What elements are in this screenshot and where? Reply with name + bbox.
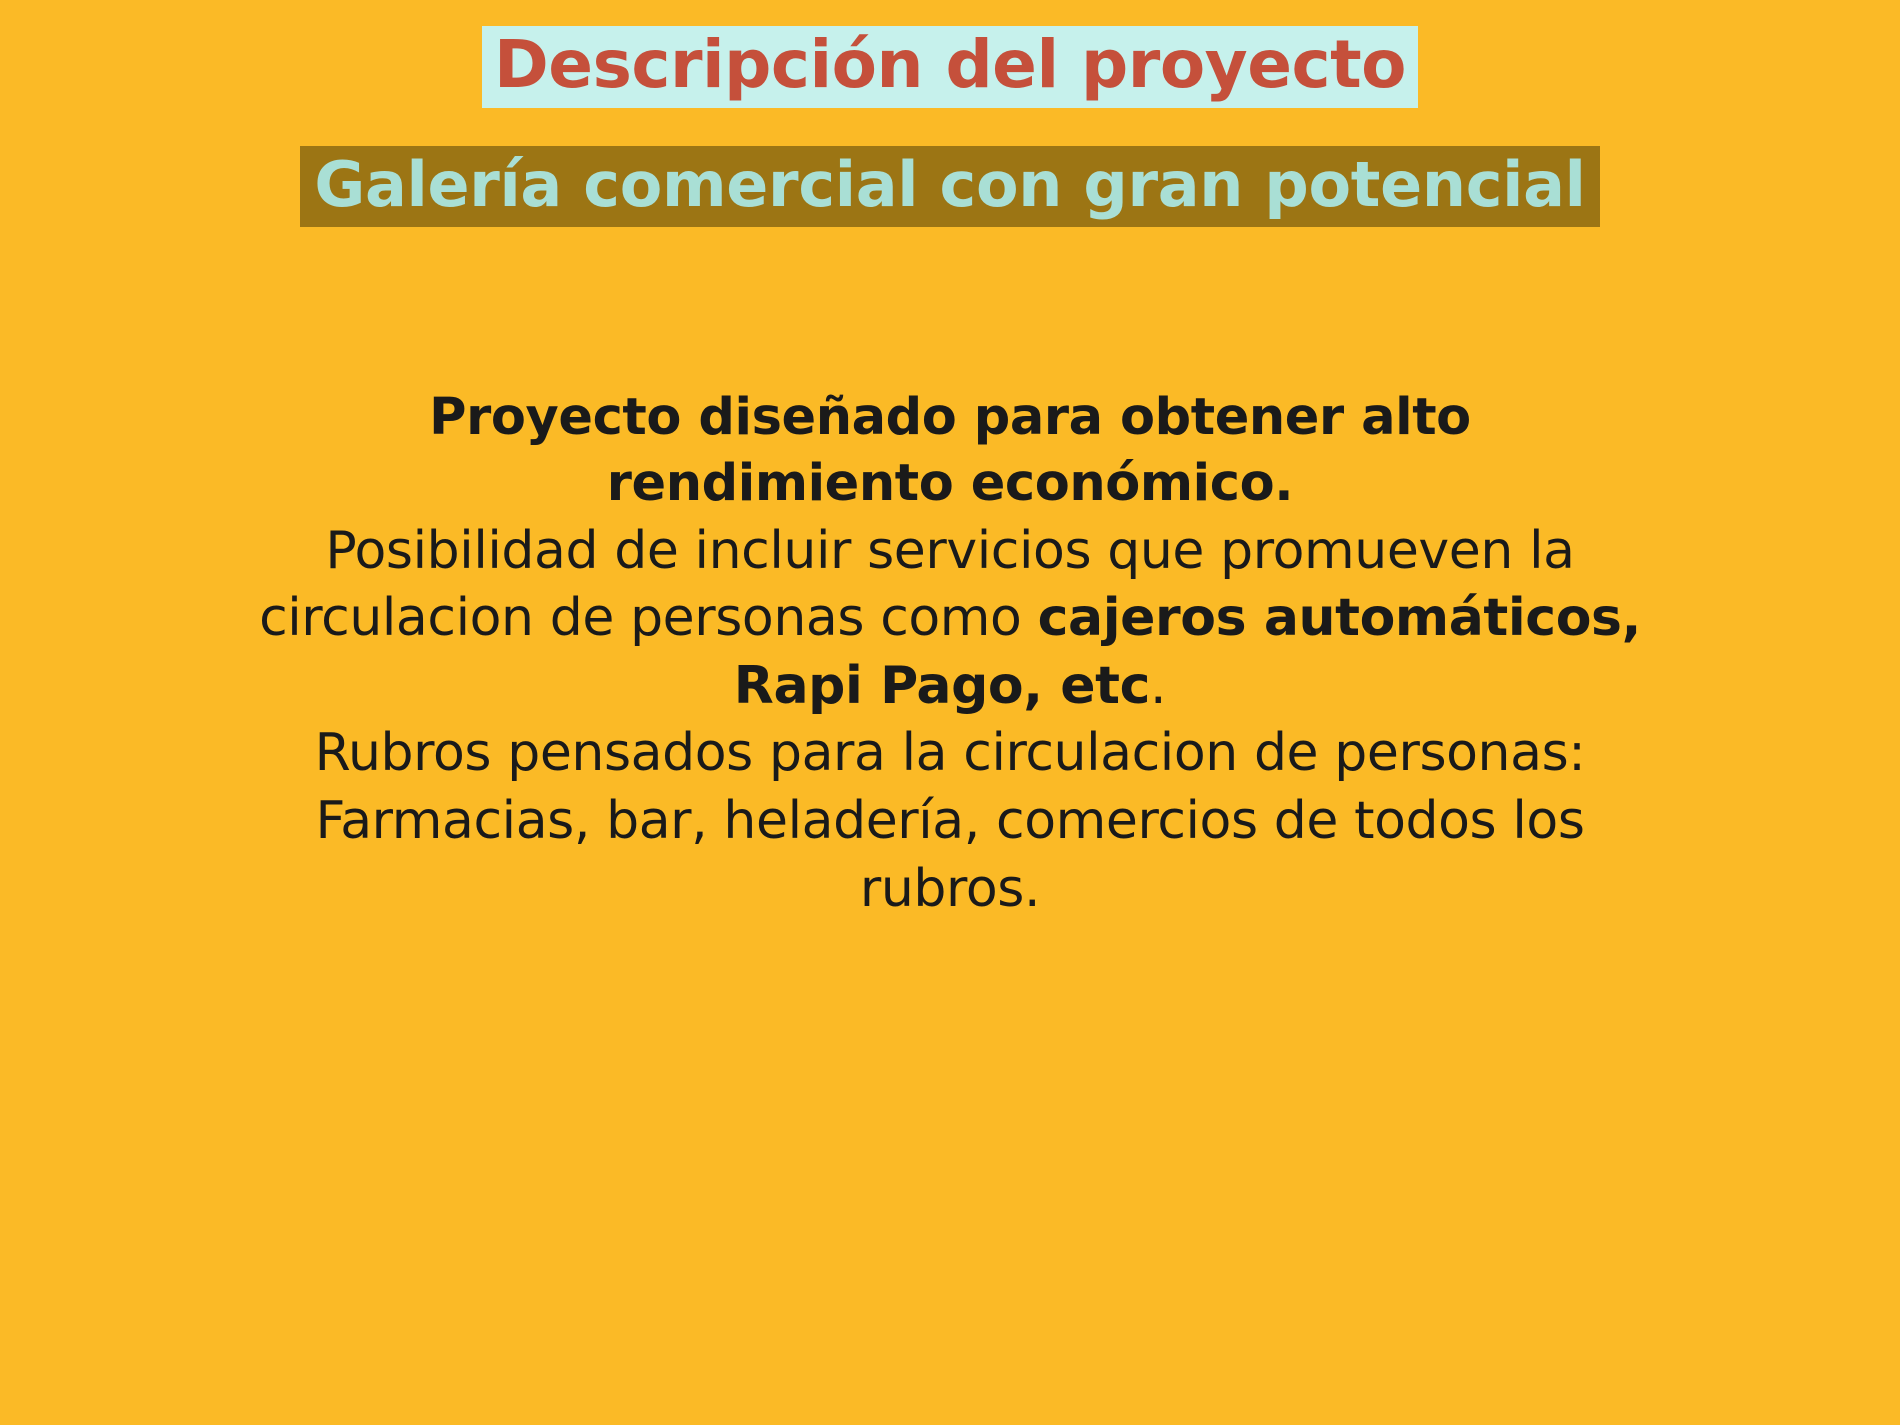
- paragraph-services-trail: .: [1150, 656, 1166, 716]
- page-title: Descripción del proyecto: [482, 26, 1418, 108]
- page-subtitle: Galería comercial con gran potencial: [300, 146, 1599, 227]
- paragraph-highlight-text-1: Proyecto diseñado para obtener alto: [429, 388, 1471, 447]
- paragraph-sectors-intro-text: Rubros pensados para la circulacion de p…: [315, 723, 1586, 783]
- paragraph-highlight-text-2: rendimiento económico.: [607, 454, 1293, 513]
- slide-canvas: Descripción del proyecto Galería comerci…: [0, 0, 1900, 1425]
- title-zone: Descripción del proyecto: [0, 0, 1900, 108]
- paragraph-services: Posibilidad de incluir servicios que pro…: [235, 518, 1665, 721]
- paragraph-sectors-intro: Rubros pensados para la circulacion de p…: [285, 720, 1615, 788]
- paragraph-highlight-line-2: rendimiento económico.: [285, 451, 1615, 517]
- paragraph-sectors-list-text: Farmacias, bar, heladería, comercios de …: [315, 791, 1584, 919]
- paragraph-highlight-line-1: Proyecto diseñado para obtener alto: [285, 385, 1615, 451]
- paragraph-sectors-list: Farmacias, bar, heladería, comercios de …: [235, 788, 1665, 923]
- body-content: Proyecto diseñado para obtener alto rend…: [0, 385, 1900, 923]
- subtitle-zone: Galería comercial con gran potencial: [0, 146, 1900, 227]
